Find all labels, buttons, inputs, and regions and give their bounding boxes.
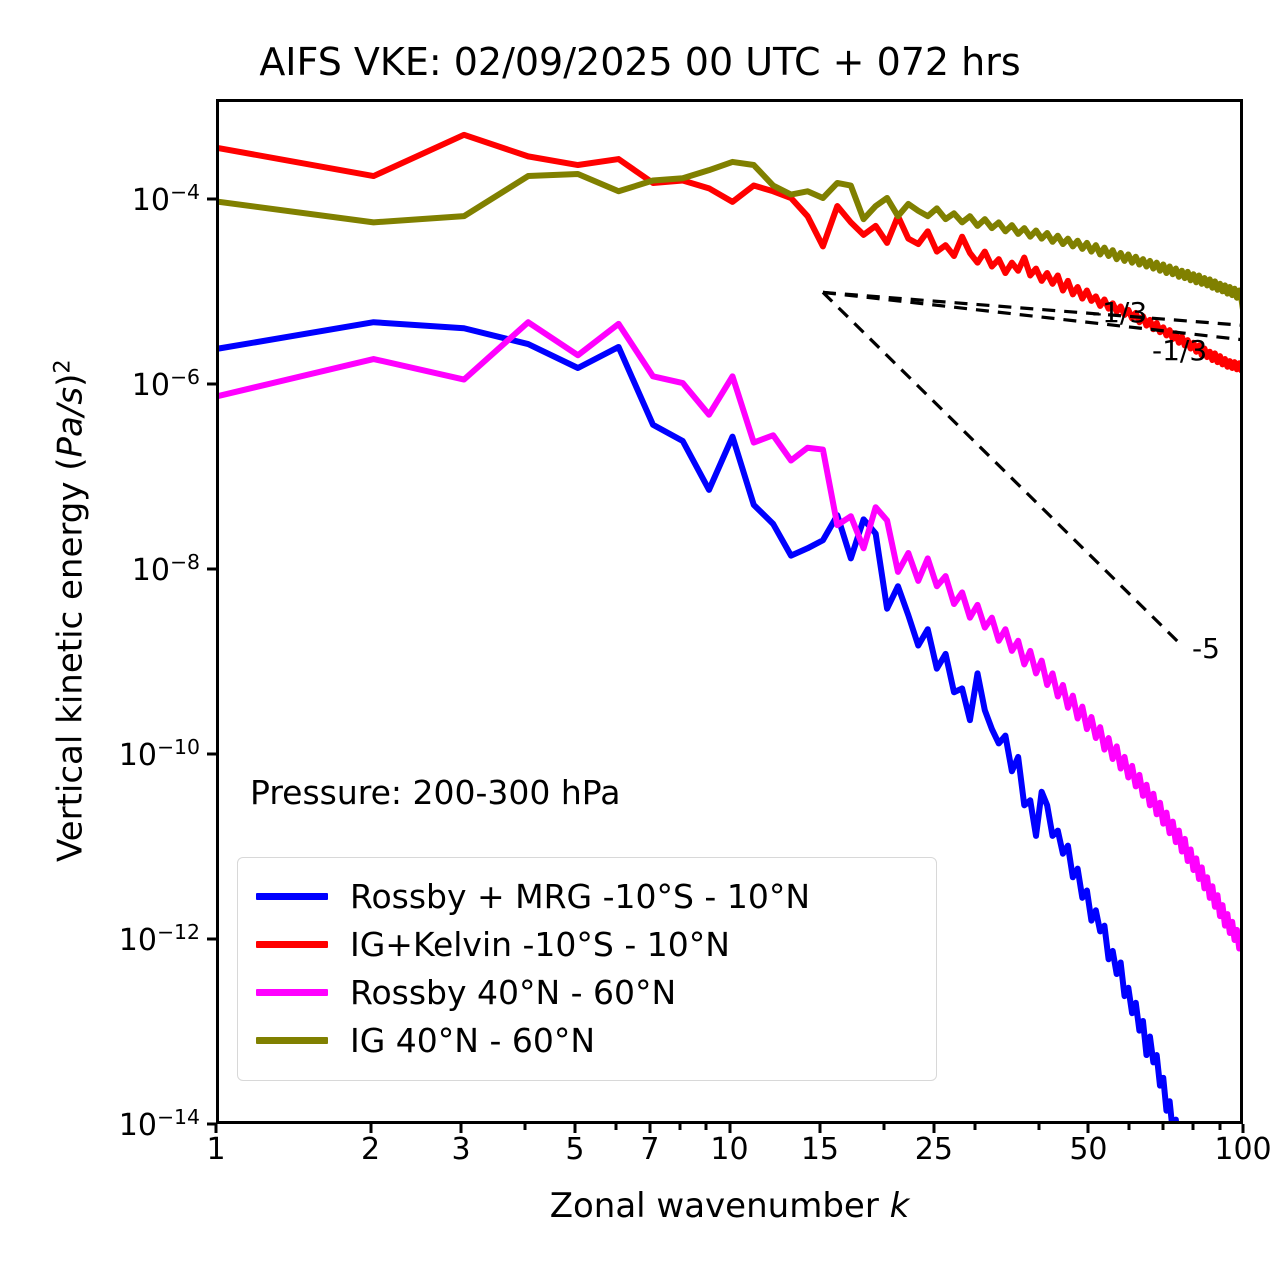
y-tick-label: 10−14	[119, 1105, 200, 1143]
x-tick-mark	[1087, 1124, 1090, 1133]
y-tick-label: 10−12	[119, 920, 200, 958]
x-tick-mark	[215, 1124, 218, 1133]
y-axis-label: Vertical kinetic energy (Pa/s)2	[49, 231, 90, 991]
x-tick-mark	[573, 1124, 576, 1133]
chart-figure: AIFS VKE: 02/09/2025 00 UTC + 072 hrs Ve…	[0, 0, 1280, 1288]
legend-color-swatch	[256, 893, 328, 900]
slope-annotation-lower: -1/3	[1152, 334, 1207, 367]
chart-legend: Rossby + MRG -10°S - 10°NIG+Kelvin -10°S…	[237, 857, 937, 1081]
legend-item-3[interactable]: IG 40°N - 60°N	[256, 1016, 918, 1064]
legend-color-swatch	[256, 1037, 328, 1044]
x-tick-label: 10	[710, 1132, 748, 1167]
x-tick-label: 25	[915, 1132, 953, 1167]
x-tick-mark-minor	[524, 1124, 527, 1130]
x-tick-mark-minor	[705, 1124, 708, 1130]
x-tick-mark	[728, 1124, 731, 1133]
legend-item-label: Rossby 40°N - 60°N	[350, 976, 676, 1009]
legend-item-label: IG+Kelvin -10°S - 10°N	[350, 928, 730, 961]
legend-item-label: IG 40°N - 60°N	[350, 1024, 595, 1057]
x-tick-mark	[818, 1124, 821, 1133]
slope-annotation-steep: -5	[1192, 632, 1220, 665]
legend-item-label: Rossby + MRG -10°S - 10°N	[350, 880, 810, 913]
y-tick-mark	[207, 197, 216, 200]
x-tick-mark-minor	[1128, 1124, 1131, 1130]
x-tick-label: 5	[565, 1132, 584, 1167]
y-tick-label: 10−4	[132, 180, 200, 218]
x-axis-label: Zonal wavenumber k	[216, 1186, 1243, 1226]
y-tick-mark	[207, 752, 216, 755]
x-tick-label: 50	[1069, 1132, 1107, 1167]
x-tick-label: 3	[451, 1132, 470, 1167]
pressure-annotation: Pressure: 200-300 hPa	[250, 773, 620, 812]
reference-line-0	[823, 292, 1243, 325]
x-tick-mark-minor	[678, 1124, 681, 1130]
x-tick-mark-minor	[1192, 1124, 1195, 1130]
legend-item-1[interactable]: IG+Kelvin -10°S - 10°N	[256, 920, 918, 968]
x-tick-mark	[648, 1124, 651, 1133]
x-tick-mark-minor	[614, 1124, 617, 1130]
chart-title: AIFS VKE: 02/09/2025 00 UTC + 072 hrs	[0, 40, 1280, 84]
x-tick-label: 1	[206, 1132, 225, 1167]
x-tick-mark-minor	[1162, 1124, 1165, 1130]
x-tick-label: 15	[801, 1132, 839, 1167]
x-tick-mark	[932, 1124, 935, 1133]
x-tick-mark	[369, 1124, 372, 1133]
x-tick-mark	[460, 1124, 463, 1133]
legend-color-swatch	[256, 941, 328, 948]
y-tick-mark	[207, 382, 216, 385]
x-tick-mark-minor	[883, 1124, 886, 1130]
slope-annotation-upper: -1/3	[1092, 296, 1147, 329]
reference-line-2	[823, 292, 1182, 645]
y-tick-label: 10−10	[119, 735, 200, 773]
x-tick-mark-minor	[1218, 1124, 1221, 1130]
legend-item-0[interactable]: Rossby + MRG -10°S - 10°N	[256, 872, 918, 920]
legend-item-2[interactable]: Rossby 40°N - 60°N	[256, 968, 918, 1016]
legend-color-swatch	[256, 989, 328, 996]
y-tick-mark	[207, 937, 216, 940]
reference-line-1	[823, 292, 1243, 340]
x-tick-label: 2	[361, 1132, 380, 1167]
x-tick-label: 100	[1214, 1132, 1271, 1167]
x-tick-mark-minor	[1037, 1124, 1040, 1130]
y-tick-label: 10−8	[132, 550, 200, 588]
x-tick-mark	[1242, 1124, 1245, 1133]
y-tick-mark	[207, 567, 216, 570]
x-tick-mark-minor	[973, 1124, 976, 1130]
y-tick-label: 10−6	[132, 365, 200, 403]
x-tick-label: 7	[640, 1132, 659, 1167]
